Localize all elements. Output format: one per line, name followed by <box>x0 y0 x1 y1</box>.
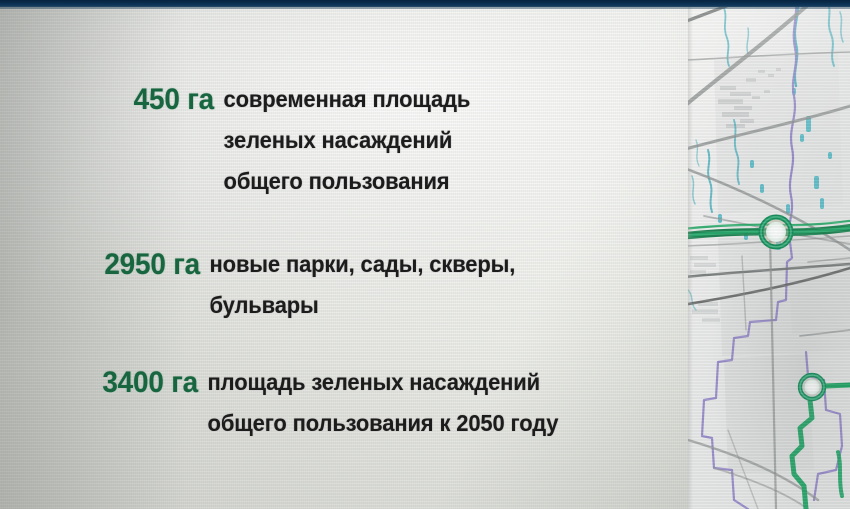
stat-description-new-parks: новые парки, сады, скверы, бульвары <box>200 244 515 326</box>
stat-block-current-area: 450 га современная площадь зеленых насаж… <box>64 79 482 202</box>
stat-line: современная площадь <box>224 79 471 120</box>
stat-line: новые парки, сады, скверы, <box>210 244 516 285</box>
slide-photo: 450 га современная площадь зеленых насаж… <box>0 0 850 509</box>
city-plan-map[interactable] <box>688 0 850 509</box>
stat-value-2950ga: 2950 га <box>61 244 201 285</box>
green-ring-marker-south[interactable] <box>798 373 826 401</box>
stat-line: общего пользования к 2050 году <box>208 403 559 444</box>
stat-value-3400ga: 3400 га <box>59 362 199 403</box>
stat-value-450ga: 450 га <box>75 79 215 120</box>
stat-description-target-2050: площадь зеленых насаждений общего пользо… <box>198 362 558 444</box>
stat-block-new-parks: 2950 га новые парки, сады, скверы, бульв… <box>50 244 530 326</box>
stat-line: площадь зеленых насаждений <box>208 362 559 403</box>
stat-block-target-2050: 3400 га площадь зеленых насаждений общег… <box>48 362 575 444</box>
stat-line: бульвары <box>210 285 516 326</box>
stat-line: общего пользования <box>224 161 471 202</box>
monitor-bezel-top <box>0 0 850 7</box>
stat-line: зеленых насаждений <box>224 120 471 161</box>
green-ring-marker-north[interactable] <box>759 215 793 249</box>
slide-content: 450 га современная площадь зеленых насаж… <box>0 0 700 509</box>
stat-description-current-area: современная площадь зеленых насаждений о… <box>214 79 470 202</box>
map-graphic <box>688 0 850 509</box>
